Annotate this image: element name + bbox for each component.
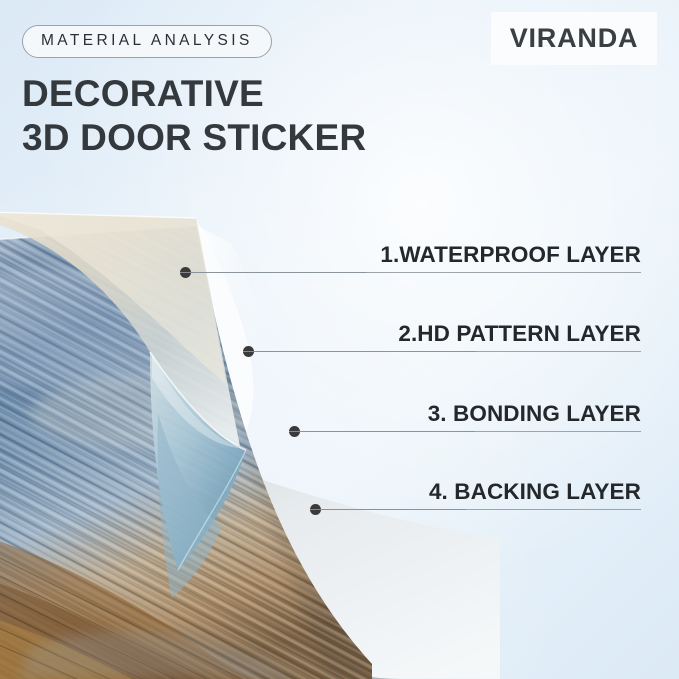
callout-underline: [310, 509, 641, 510]
callout-label: 4. BACKING LAYER: [429, 479, 641, 505]
callout-underline: [180, 272, 641, 273]
headline-line-2: 3D DOOR STICKER: [22, 116, 366, 160]
page-title: DECORATIVE 3D DOOR STICKER: [22, 72, 366, 159]
callout-underline: [289, 431, 641, 432]
callout-underline: [243, 351, 641, 352]
brand-logo: VIRANDA: [491, 12, 657, 65]
callout-label: 3. BONDING LAYER: [428, 401, 641, 427]
callout-label: 1.WATERPROOF LAYER: [380, 242, 641, 268]
poster-canvas: MATERIAL ANALYSIS DECORATIVE 3D DOOR STI…: [0, 0, 679, 679]
brand-name: VIRANDA: [510, 23, 639, 54]
callout-label: 2.HD PATTERN LAYER: [398, 321, 641, 347]
material-analysis-badge: MATERIAL ANALYSIS: [22, 25, 272, 58]
headline-line-1: DECORATIVE: [22, 73, 264, 114]
